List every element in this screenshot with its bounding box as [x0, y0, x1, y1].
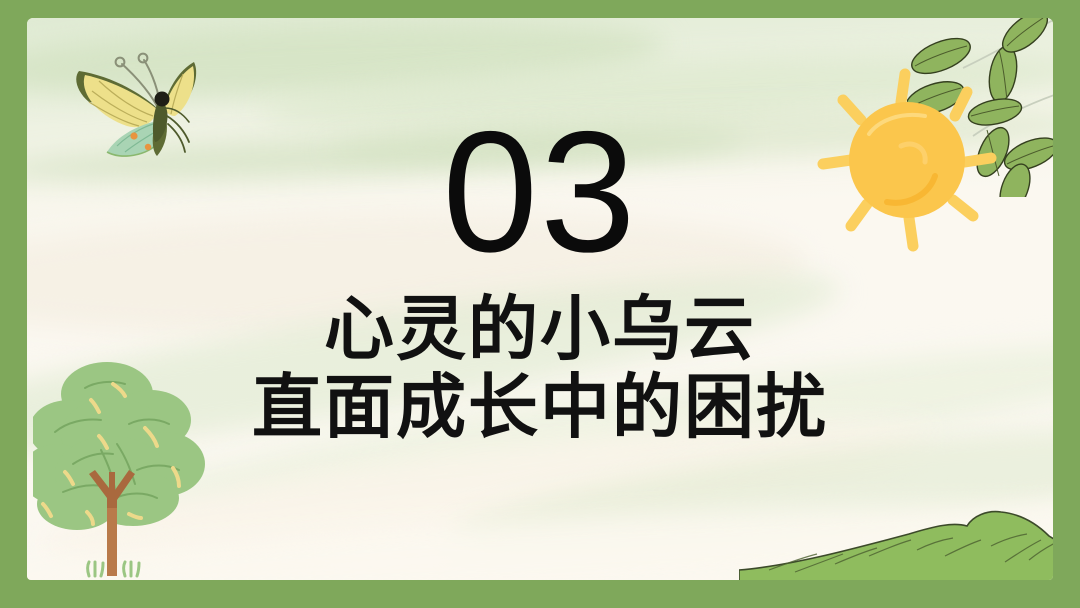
slide-canvas: 03 心灵的小乌云 直面成长中的困扰 — [0, 0, 1080, 608]
headline-block: 心灵的小乌云 直面成长中的困扰 — [27, 290, 1053, 446]
headline-line-1: 心灵的小乌云 — [27, 290, 1053, 368]
section-number: 03 — [27, 106, 1053, 278]
headline-line-2: 直面成长中的困扰 — [27, 368, 1053, 446]
slide-inner-panel: 03 心灵的小乌云 直面成长中的困扰 — [27, 18, 1053, 580]
